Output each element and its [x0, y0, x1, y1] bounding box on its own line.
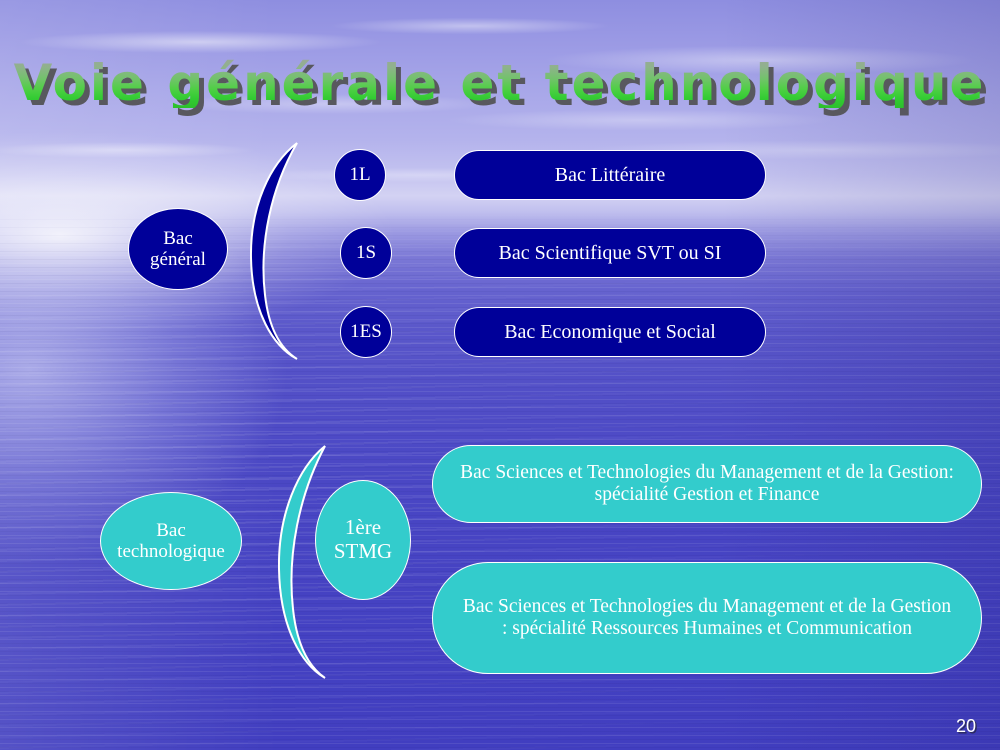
node-1ere-stmg-label: 1ère STMG [334, 516, 392, 563]
node-code-1l[interactable]: 1L [334, 149, 386, 201]
node-bac-economique-label: Bac Economique et Social [504, 321, 716, 343]
node-stmg-gestion-finance[interactable]: Bac Sciences et Technologies du Manageme… [432, 445, 982, 523]
node-bac-scientifique-label: Bac Scientifique SVT ou SI [499, 242, 722, 264]
node-code-1s-label: 1S [356, 242, 376, 263]
node-stmg-gestion-finance-label: Bac Sciences et Technologies du Manageme… [459, 462, 955, 506]
node-bac-general-label: Bac général [150, 228, 206, 271]
node-code-1l-label: 1L [349, 164, 370, 185]
node-bac-litteraire-label: Bac Littéraire [555, 164, 666, 186]
node-bac-general[interactable]: Bac général [128, 208, 228, 290]
crescent-brace-icon-general [250, 140, 312, 362]
slide-canvas: Voie générale et technologique Voie géné… [0, 0, 1000, 750]
node-bac-technologique[interactable]: Bac technologique [100, 492, 242, 590]
node-code-1es-label: 1ES [350, 321, 382, 342]
page-number: 20 [956, 716, 976, 737]
node-bac-technologique-label: Bac technologique [117, 520, 225, 563]
node-code-1es[interactable]: 1ES [340, 306, 392, 358]
node-bac-economique[interactable]: Bac Economique et Social [454, 307, 766, 357]
node-bac-scientifique[interactable]: Bac Scientifique SVT ou SI [454, 228, 766, 278]
node-stmg-ressources-humaines-communication[interactable]: Bac Sciences et Technologies du Manageme… [432, 562, 982, 674]
node-1ere-stmg[interactable]: 1ère STMG [315, 480, 411, 600]
node-code-1s[interactable]: 1S [340, 227, 392, 279]
node-stmg-ressources-humaines-communication-label: Bac Sciences et Technologies du Manageme… [459, 596, 955, 640]
node-bac-litteraire[interactable]: Bac Littéraire [454, 150, 766, 200]
